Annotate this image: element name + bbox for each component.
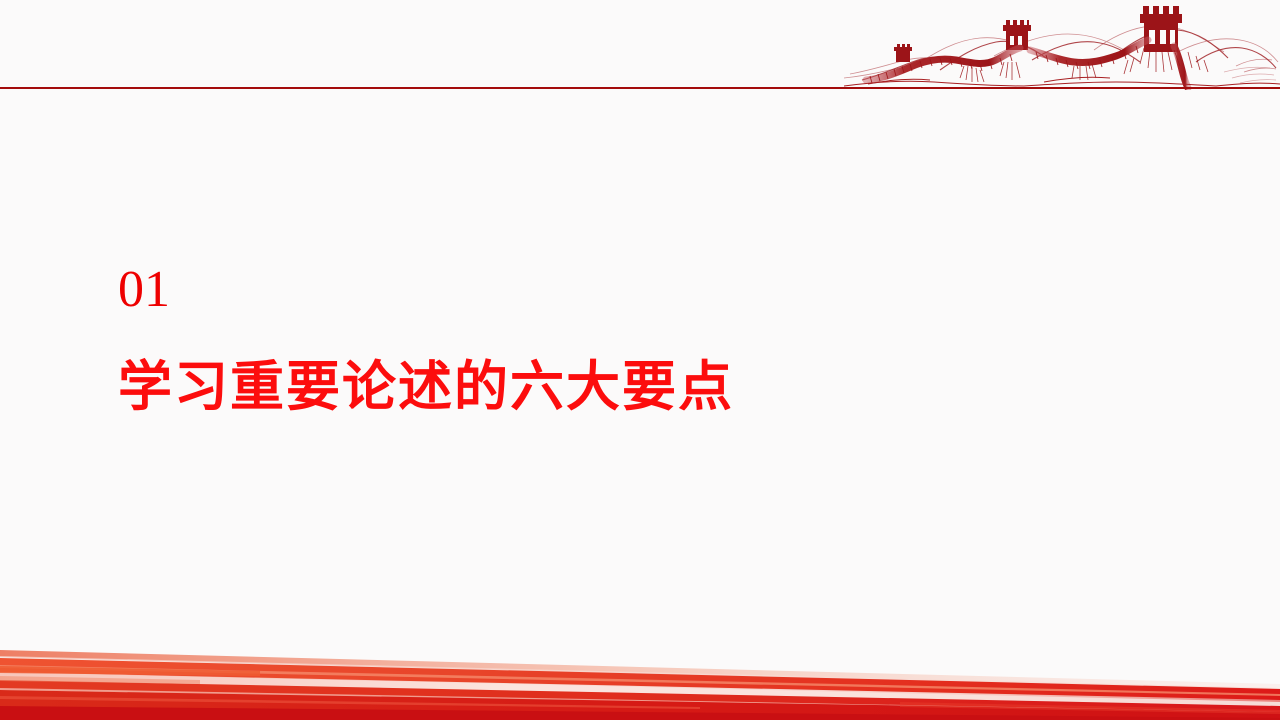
great-wall-svg bbox=[844, 0, 1280, 90]
red-ribbon-bands-svg bbox=[0, 610, 1280, 720]
slide-canvas: 01 学习重要论述的六大要点 bbox=[0, 0, 1280, 720]
header-divider-rule bbox=[0, 87, 1280, 89]
footer-ribbon-decoration bbox=[0, 610, 1280, 720]
section-title-block: 01 学习重要论述的六大要点 bbox=[118, 262, 1018, 424]
slide-header bbox=[0, 0, 1280, 92]
page-title: 学习重要论述的六大要点 bbox=[118, 348, 1018, 424]
section-number: 01 bbox=[118, 262, 1018, 318]
watchtower-small bbox=[894, 44, 912, 62]
great-wall-illustration-icon bbox=[844, 0, 1280, 90]
